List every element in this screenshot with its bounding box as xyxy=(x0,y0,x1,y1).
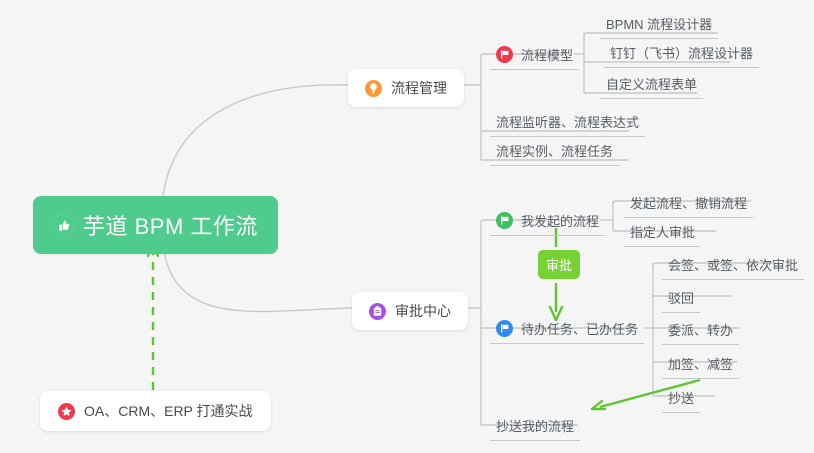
node-bpmn-designer[interactable]: BPMN 流程设计器 xyxy=(600,11,718,39)
note-node[interactable]: OA、CRM、ERP 打通实战 xyxy=(40,391,271,431)
node-dingtalk-designer[interactable]: 钉钉（飞书）流程设计器 xyxy=(604,40,759,68)
node-start-cancel-process[interactable]: 发起流程、撤销流程 xyxy=(624,190,753,218)
root-label: 芋道 BPM 工作流 xyxy=(83,209,258,241)
root-node[interactable]: 芋道 BPM 工作流 xyxy=(33,196,278,254)
node-add-remove-sign[interactable]: 加签、减签 xyxy=(662,351,739,379)
leaf-label: 钉钉（飞书）流程设计器 xyxy=(610,43,753,62)
clipboard-icon xyxy=(369,303,386,320)
thumbs-up-icon xyxy=(53,215,74,236)
star-icon xyxy=(58,403,75,420)
approval-tag-label: 审批 xyxy=(546,258,572,273)
leaf-label: 抄送我的流程 xyxy=(496,416,574,435)
node-delegate-transfer[interactable]: 委派、转办 xyxy=(662,317,739,345)
edge-root-to-approval-center xyxy=(163,246,352,311)
node-custom-form[interactable]: 自定义流程表单 xyxy=(600,71,703,99)
leaf-label: 抄送 xyxy=(668,388,694,407)
leaf-label: 流程模型 xyxy=(521,45,573,64)
leaf-label: 发起流程、撤销流程 xyxy=(630,193,747,212)
lightbulb-icon xyxy=(365,80,382,97)
branch-label: 审批中心 xyxy=(395,301,451,321)
leaf-label: 我发起的流程 xyxy=(521,211,599,230)
flag-green-icon xyxy=(496,212,513,229)
branch-label: 流程管理 xyxy=(391,78,447,98)
node-countersign[interactable]: 会签、或签、依次审批 xyxy=(662,252,804,280)
leaf-label: 委派、转办 xyxy=(668,320,733,339)
annotation-arrow-note-to-root xyxy=(148,245,158,390)
leaf-label: 自定义流程表单 xyxy=(606,74,697,93)
leaf-label: 流程实例、流程任务 xyxy=(496,141,613,160)
node-process-instance[interactable]: 流程实例、流程任务 xyxy=(490,138,619,166)
leaf-label: 加签、减签 xyxy=(668,354,733,373)
node-process-listener[interactable]: 流程监听器、流程表达式 xyxy=(490,109,645,137)
node-reject[interactable]: 驳回 xyxy=(662,285,700,313)
flag-blue-icon xyxy=(496,320,513,337)
node-assignee-approval[interactable]: 指定人审批 xyxy=(624,219,701,247)
leaf-label: 会签、或签、依次审批 xyxy=(668,255,798,274)
node-my-started-process[interactable]: 我发起的流程 xyxy=(490,208,605,236)
node-process-model[interactable]: 流程模型 xyxy=(490,42,579,70)
node-cc-to-me[interactable]: 抄送我的流程 xyxy=(490,413,580,441)
flag-red-icon xyxy=(496,46,513,63)
edge-root-to-process-management xyxy=(163,85,348,196)
leaf-label: 驳回 xyxy=(668,288,694,307)
node-cc[interactable]: 抄送 xyxy=(662,385,700,413)
branch-approval-center[interactable]: 审批中心 xyxy=(352,292,468,330)
leaf-label: BPMN 流程设计器 xyxy=(606,14,712,33)
leaf-label: 流程监听器、流程表达式 xyxy=(496,112,639,131)
note-label: OA、CRM、ERP 打通实战 xyxy=(84,401,253,421)
mindmap-canvas: 芋道 BPM 工作流 OA、CRM、ERP 打通实战 流程管理 xyxy=(0,0,814,453)
leaf-label: 指定人审批 xyxy=(630,222,695,241)
leaf-label: 待办任务、已办任务 xyxy=(521,319,638,338)
branch-process-management[interactable]: 流程管理 xyxy=(348,69,464,107)
approval-tag[interactable]: 审批 xyxy=(538,250,580,279)
node-todo-done-tasks[interactable]: 待办任务、已办任务 xyxy=(490,316,644,344)
